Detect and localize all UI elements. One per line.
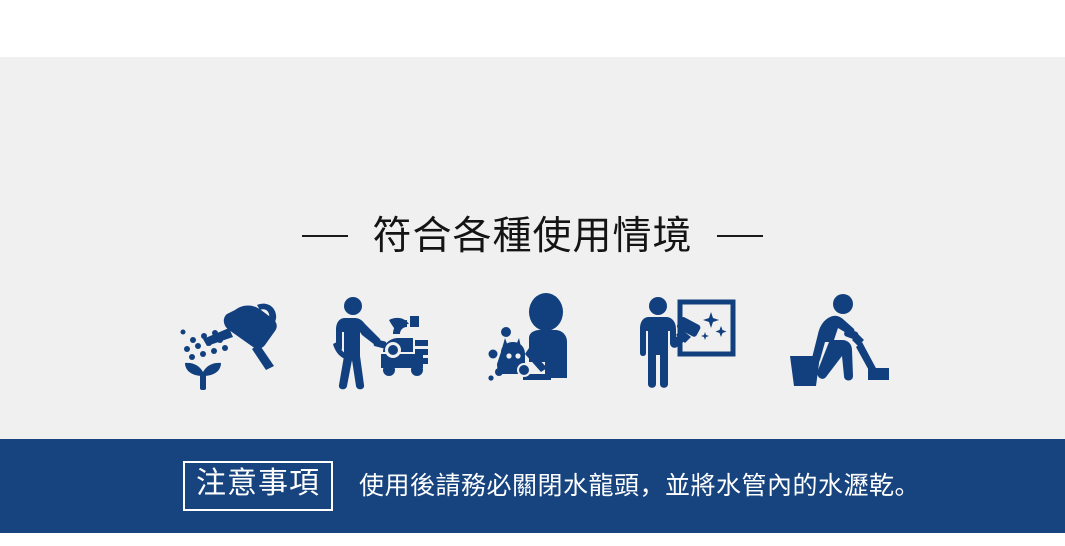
use-case-item-mopping	[778, 285, 898, 395]
window-cleaning-icon	[636, 290, 736, 390]
notice-text: 使用後請務必關閉水龍頭，並將水管內的水瀝乾。	[359, 471, 920, 501]
right-rule-icon	[717, 235, 763, 237]
use-case-item-window-clean	[626, 285, 746, 395]
top-white-strip	[0, 0, 1065, 57]
use-case-icon-row	[168, 285, 898, 395]
floor-mopping-icon	[786, 290, 891, 390]
notice-tag: 注意事項	[183, 461, 333, 511]
left-rule-icon	[302, 235, 348, 237]
pet-bathing-icon	[483, 290, 583, 390]
section-title-text: 符合各種使用情境	[372, 217, 692, 256]
promo-page: 符合各種使用情境	[0, 0, 1065, 546]
use-case-item-watering	[168, 285, 288, 395]
car-wash-icon	[331, 290, 431, 390]
watering-can-plant-icon	[173, 290, 283, 390]
bottom-white-strip	[0, 533, 1065, 546]
notice-banner: 注意事項 使用後請務必關閉水龍頭，並將水管內的水瀝乾。	[0, 439, 1065, 533]
features-panel: 符合各種使用情境	[0, 57, 1065, 439]
use-case-item-car-wash	[321, 285, 441, 395]
section-heading: 符合各種使用情境	[0, 207, 1065, 265]
use-case-item-pet-bath	[473, 285, 593, 395]
